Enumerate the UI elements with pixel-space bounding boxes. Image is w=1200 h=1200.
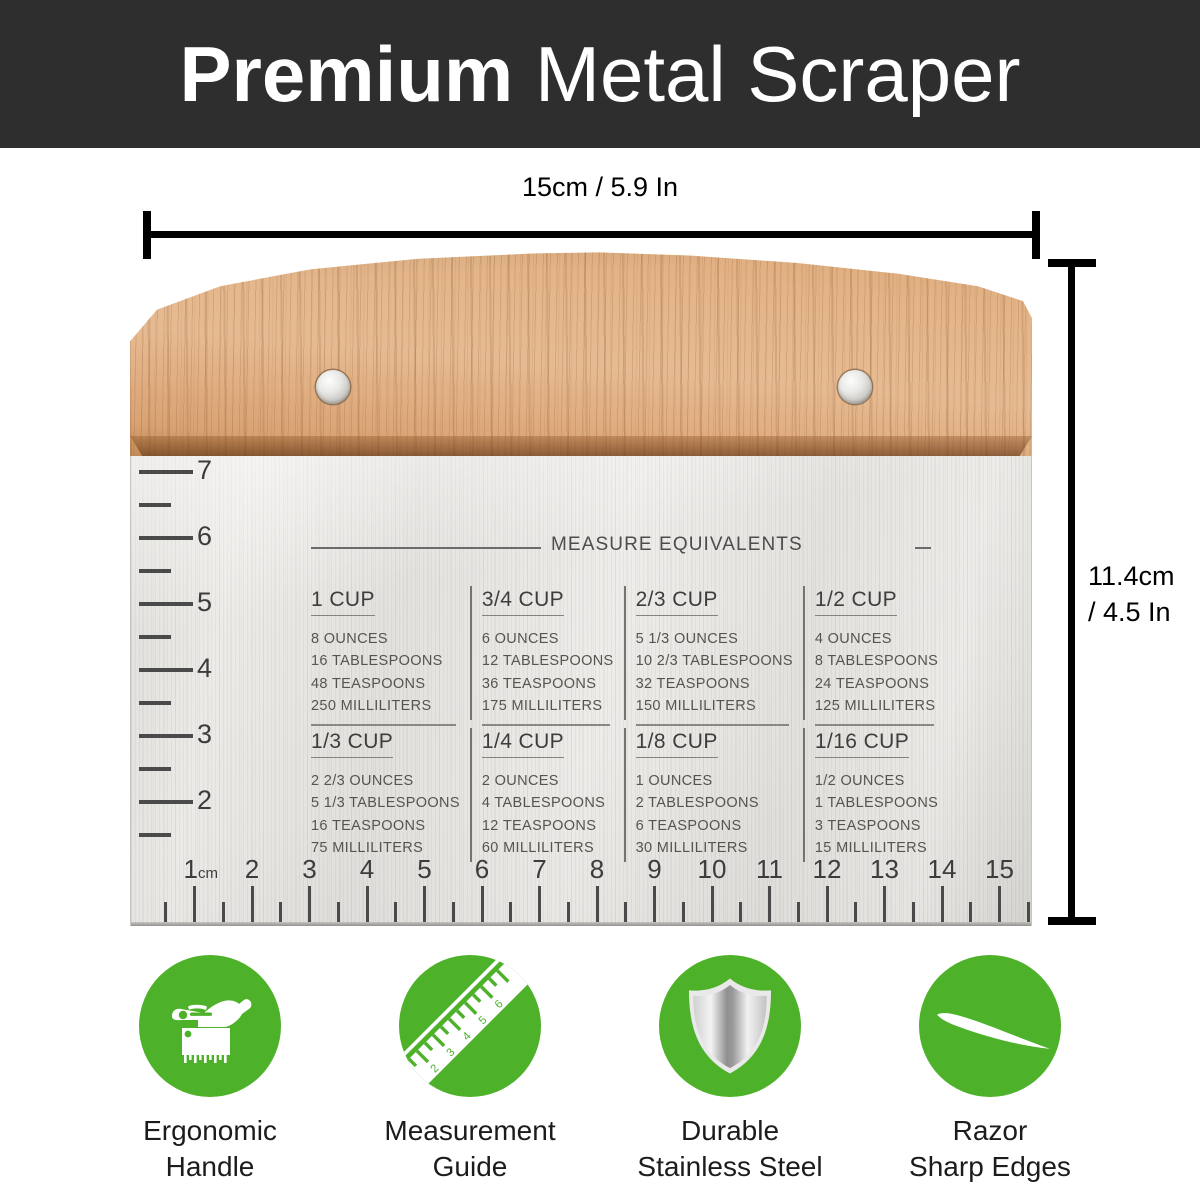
cm-tick-label: 5 — [417, 856, 431, 882]
page-title: Premium Metal Scraper — [180, 35, 1021, 113]
cm-tick-minor — [1027, 902, 1030, 922]
measure-line: 12 TABLESPOONS — [482, 650, 614, 672]
inch-tick-major — [139, 536, 193, 540]
feature-item: ErgonomicHandle — [80, 955, 340, 1195]
feature-label-line1: Measurement — [384, 1113, 555, 1149]
inch-tick-label: 4 — [197, 655, 212, 682]
feature-label-line2: Handle — [143, 1149, 277, 1185]
width-dimension-cap-right — [1032, 211, 1040, 259]
cm-tick-label: 13 — [870, 856, 899, 882]
measure-column: 1/16 CUP1/2 OUNCES1 TABLESPOONS3 TEASPOO… — [803, 726, 948, 868]
height-dimension-cap-bottom — [1048, 917, 1096, 925]
title-light-part: Metal Scraper — [535, 30, 1021, 118]
measure-line: 250 MILLILITERS — [311, 695, 460, 717]
header-rule-left — [311, 547, 541, 549]
cm-tick-minor — [164, 902, 167, 922]
measure-line: 2 2/3 OUNCES — [311, 770, 460, 792]
inch-tick-minor — [139, 569, 171, 573]
cm-tick-minor — [222, 902, 225, 922]
inch-tick-major — [139, 734, 193, 738]
cm-tick-label: 14 — [928, 856, 957, 882]
measure-column: 3/4 CUP6 OUNCES12 TABLESPOONS36 TEASPOON… — [470, 584, 624, 726]
measure-column-title: 1/4 CUP — [482, 730, 564, 758]
inch-tick-minor — [139, 701, 171, 705]
cm-tick-minor — [394, 902, 397, 922]
feature-label-line2: Guide — [384, 1149, 555, 1185]
shield-icon — [659, 955, 801, 1097]
title-bold-part: Premium — [180, 30, 514, 118]
measure-column-title: 1/2 CUP — [815, 588, 897, 616]
cm-tick-minor — [337, 902, 340, 922]
measure-line: 8 OUNCES — [311, 628, 460, 650]
inch-tick-minor — [139, 767, 171, 771]
height-dimension-line — [1068, 259, 1075, 925]
feature-label: RazorSharp Edges — [909, 1113, 1071, 1185]
inch-tick-major — [139, 668, 193, 672]
inch-tick-minor — [139, 503, 171, 507]
cm-tick-minor — [682, 902, 685, 922]
cm-tick-label: 11 — [756, 856, 783, 882]
cm-tick-label: 6 — [475, 856, 489, 882]
measure-column-title: 1 CUP — [311, 588, 375, 616]
cm-tick-label: 12 — [813, 856, 842, 882]
measure-line: 4 OUNCES — [815, 628, 938, 650]
measure-equivalents-grid: 1 CUP8 OUNCES16 TABLESPOONS48 TEASPOONS2… — [299, 584, 939, 868]
cm-first-number: 1 — [183, 854, 197, 884]
cm-tick-major — [193, 886, 196, 922]
height-dimension-label: 11.4cm / 4.5 In — [1088, 558, 1200, 631]
cm-tick-major — [596, 886, 599, 922]
cm-tick-minor — [969, 902, 972, 922]
inch-tick-label: 2 — [197, 787, 212, 814]
feature-item: RazorSharp Edges — [860, 955, 1120, 1195]
cm-tick-major — [423, 886, 426, 922]
measure-line: 6 TEASPOONS — [636, 815, 793, 837]
product-infographic: Premium Metal Scraper 15cm / 5.9 In 11.4… — [0, 0, 1200, 1200]
measure-column: 1/2 CUP4 OUNCES8 TABLESPOONS24 TEASPOONS… — [803, 584, 948, 726]
blade-sharp-edge — [131, 922, 1031, 926]
measure-line: 1 OUNCES — [636, 770, 793, 792]
measure-column-title: 3/4 CUP — [482, 588, 564, 616]
cm-tick-label: 8 — [590, 856, 604, 882]
cm-tick-label: 4 — [360, 856, 374, 882]
feature-list: ErgonomicHandle123456MeasurementGuideDur… — [80, 955, 1120, 1195]
wooden-handle — [130, 246, 1032, 458]
width-dimension-line — [143, 231, 1040, 238]
handle-bottom-edge — [130, 436, 1032, 458]
cm-tick-minor — [509, 902, 512, 922]
measure-line: 48 TEASPOONS — [311, 673, 460, 695]
measure-equivalents-panel: MEASURE EQUIVALENTS 1 CUP8 OUNCES16 TABL… — [299, 534, 939, 868]
feature-item: 123456MeasurementGuide — [340, 955, 600, 1195]
cm-tick-major — [653, 886, 656, 922]
cm-tick-major — [251, 886, 254, 922]
cm-tick-minor — [567, 902, 570, 922]
measure-column-title: 1/16 CUP — [815, 730, 909, 758]
measure-line: 2 TABLESPOONS — [636, 792, 793, 814]
measure-line: 5 1/3 TABLESPOONS — [311, 792, 460, 814]
cm-tick-major — [941, 886, 944, 922]
measure-line: 1 TABLESPOONS — [815, 792, 938, 814]
cm-tick-major — [768, 886, 771, 922]
cm-unit-suffix: cm — [198, 865, 218, 882]
feature-item: DurableStainless Steel — [600, 955, 860, 1195]
measure-column: 2/3 CUP5 1/3 OUNCES10 2/3 TABLESPOONS32 … — [624, 584, 803, 726]
inch-tick-label: 6 — [197, 523, 212, 550]
cm-tick-minor — [279, 902, 282, 922]
measure-column: 1/4 CUP2 OUNCES4 TABLESPOONS12 TEASPOONS… — [470, 726, 624, 868]
cm-tick-minor — [854, 902, 857, 922]
measure-line: 5 1/3 OUNCES — [636, 628, 793, 650]
measure-line: 16 TEASPOONS — [311, 815, 460, 837]
measure-equivalents-title: MEASURE EQUIVALENTS — [551, 534, 803, 556]
feature-label-line1: Durable — [637, 1113, 822, 1149]
blade-edge-icon — [919, 955, 1061, 1097]
rivet-left — [316, 370, 350, 404]
inch-tick-minor — [139, 833, 171, 837]
measure-line: 1/2 OUNCES — [815, 770, 938, 792]
vertical-inch-ruler: 765432 — [139, 470, 231, 890]
measure-column-title: 1/8 CUP — [636, 730, 718, 758]
measure-line: 36 TEASPOONS — [482, 673, 614, 695]
height-dimension-label-line1: 11.4cm — [1088, 558, 1200, 594]
inch-tick-label: 5 — [197, 589, 212, 616]
measure-line: 150 MILLILITERS — [636, 695, 793, 717]
rivet-right — [838, 370, 872, 404]
cm-tick-label: 10 — [698, 856, 727, 882]
inch-tick-label: 7 — [197, 457, 212, 484]
feature-label-line2: Stainless Steel — [637, 1149, 822, 1185]
inch-tick-label: 3 — [197, 721, 212, 748]
feature-label: DurableStainless Steel — [637, 1113, 822, 1185]
cm-tick-minor — [912, 902, 915, 922]
cm-tick-major — [826, 886, 829, 922]
width-dimension-label: 15cm / 5.9 In — [0, 172, 1200, 203]
cm-tick-label: 2 — [245, 856, 259, 882]
measure-column: 1/3 CUP2 2/3 OUNCES5 1/3 TABLESPOONS16 T… — [299, 726, 470, 868]
cm-tick-major — [481, 886, 484, 922]
cm-tick-major — [308, 886, 311, 922]
cm-tick-label: 3 — [302, 856, 316, 882]
header-bar: Premium Metal Scraper — [0, 0, 1200, 148]
cm-tick-minor — [624, 902, 627, 922]
measure-column: 1/8 CUP1 OUNCES2 TABLESPOONS6 TEASPOONS3… — [624, 726, 803, 868]
height-dimension-cap-top — [1048, 259, 1096, 267]
measure-line: 175 MILLILITERS — [482, 695, 614, 717]
ruler-icon: 123456 — [399, 955, 541, 1097]
measure-line: 16 TABLESPOONS — [311, 650, 460, 672]
measure-line: 24 TEASPOONS — [815, 673, 938, 695]
feature-label-line1: Razor — [909, 1113, 1071, 1149]
product-image: 765432 MEASURE EQUIVALENTS 1 CUP8 OUNCES… — [130, 246, 1032, 926]
measure-column-title: 2/3 CUP — [636, 588, 718, 616]
steel-blade: 765432 MEASURE EQUIVALENTS 1 CUP8 OUNCES… — [130, 456, 1032, 926]
feature-label-line1: Ergonomic — [143, 1113, 277, 1149]
cm-tick-major — [998, 886, 1001, 922]
cm-tick-label: 1cm — [183, 856, 217, 882]
cm-tick-major — [538, 886, 541, 922]
header-rule-right — [915, 547, 931, 549]
measure-column-title: 1/3 CUP — [311, 730, 393, 758]
horizontal-cm-ruler: 1cm23456789101112131415 — [131, 848, 1033, 926]
inch-tick-minor — [139, 635, 171, 639]
cm-tick-label: 7 — [532, 856, 546, 882]
measure-line: 125 MILLILITERS — [815, 695, 938, 717]
cm-tick-major — [883, 886, 886, 922]
measure-line: 8 TABLESPOONS — [815, 650, 938, 672]
inch-tick-major — [139, 470, 193, 474]
inch-tick-major — [139, 800, 193, 804]
measure-line: 12 TEASPOONS — [482, 815, 614, 837]
measure-line: 2 OUNCES — [482, 770, 614, 792]
feature-label-line2: Sharp Edges — [909, 1149, 1071, 1185]
measure-column: 1 CUP8 OUNCES16 TABLESPOONS48 TEASPOONS2… — [299, 584, 470, 726]
hand-scraper-icon — [139, 955, 281, 1097]
measure-equivalents-header: MEASURE EQUIVALENTS — [299, 534, 939, 560]
cm-tick-major — [366, 886, 369, 922]
cm-tick-major — [711, 886, 714, 922]
measure-line: 4 TABLESPOONS — [482, 792, 614, 814]
measure-line: 10 2/3 TABLESPOONS — [636, 650, 793, 672]
cm-tick-minor — [739, 902, 742, 922]
cm-tick-minor — [797, 902, 800, 922]
cm-tick-label: 15 — [985, 856, 1014, 882]
cm-tick-minor — [452, 902, 455, 922]
height-dimension-label-line2: / 4.5 In — [1088, 594, 1200, 630]
measure-line: 32 TEASPOONS — [636, 673, 793, 695]
cm-tick-label: 9 — [647, 856, 661, 882]
measure-line: 3 TEASPOONS — [815, 815, 938, 837]
feature-label: MeasurementGuide — [384, 1113, 555, 1185]
measure-line: 6 OUNCES — [482, 628, 614, 650]
feature-label: ErgonomicHandle — [143, 1113, 277, 1185]
inch-tick-major — [139, 602, 193, 606]
